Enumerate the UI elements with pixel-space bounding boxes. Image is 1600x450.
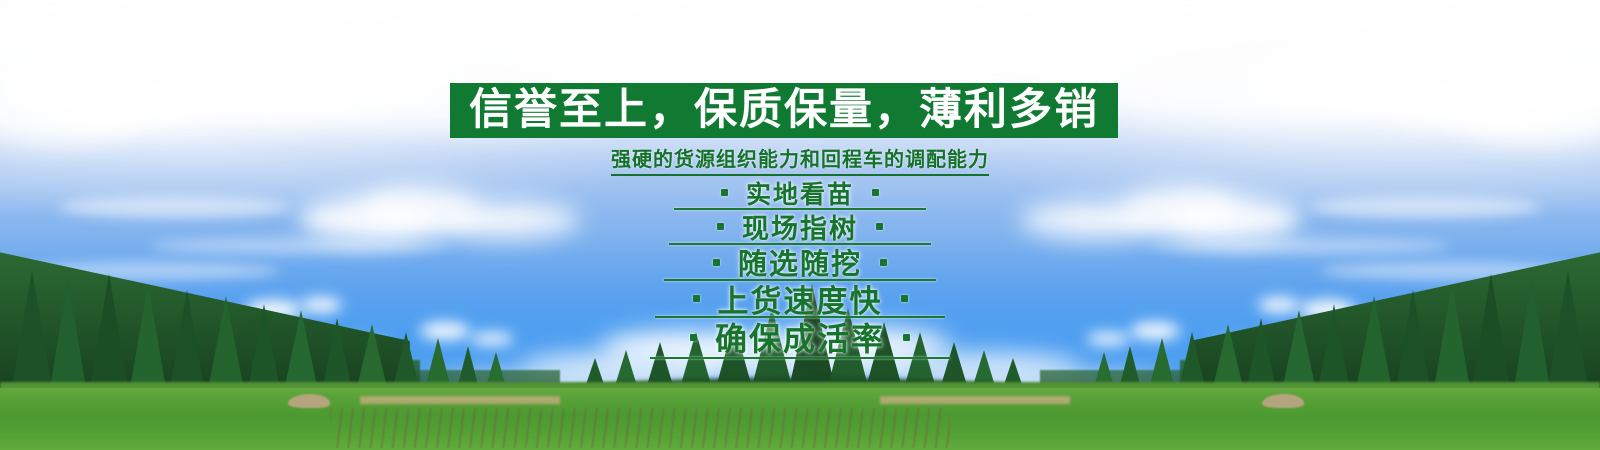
bullet-dot-icon [690,334,697,341]
bullet-dot-icon [872,189,879,196]
subheadline-text: 强硬的货源组织能力和回程车的调配能力 [611,143,989,176]
banner-text-content: 信誉至上，保质保量，薄利多销 强硬的货源组织能力和回程车的调配能力 实地看苗 现… [0,0,1600,450]
bullet-dot-icon [713,259,720,266]
subheadline: 强硬的货源组织能力和回程车的调配能力 [0,143,1600,176]
promo-banner: 信誉至上，保质保量，薄利多销 强硬的货源组织能力和回程车的调配能力 实地看苗 现… [0,0,1600,450]
list-item-label: 确保成活率 [715,314,885,360]
bullet-dot-icon [876,223,883,230]
list-item-label: 实地看苗 [746,175,854,211]
bullet-dot-icon [903,334,910,341]
list-item: 实地看苗 [0,176,1600,209]
headline-text: 信誉至上，保质保量，薄利多销 [469,89,1099,132]
headline-banner: 信誉至上，保质保量，薄利多销 [450,83,1118,138]
feature-list: 实地看苗 现场指树 随选随挖 上货速度快 [0,176,1600,357]
bullet-dot-icon [717,223,724,230]
bullet-dot-icon [880,259,887,266]
bullet-dot-icon [721,189,728,196]
list-item: 确保成活率 [0,317,1600,357]
list-item: 上货速度快 [0,280,1600,317]
list-separator [650,357,950,359]
bullet-dot-icon [693,295,700,302]
list-item: 随选随挖 [0,244,1600,280]
list-item: 现场指树 [0,209,1600,244]
bullet-dot-icon [901,295,908,302]
